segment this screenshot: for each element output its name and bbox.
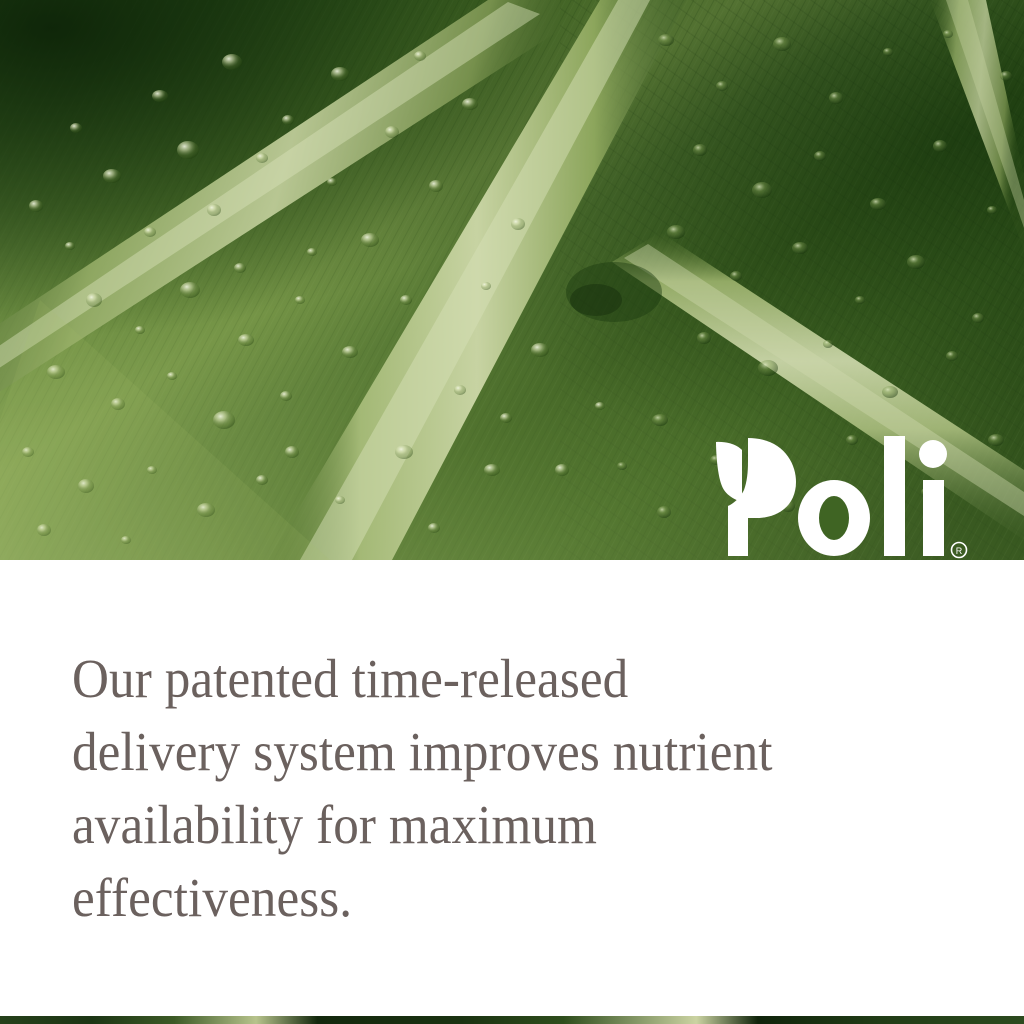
next-card-sliver: [0, 1016, 1024, 1024]
yoli-letter-l: [884, 436, 905, 556]
registered-trademark-icon: R: [952, 543, 967, 558]
next-card-leaf-edge: [0, 1016, 1024, 1024]
yoli-letter-i: [919, 440, 947, 556]
promotional-card: R Our patented time-released delivery sy…: [0, 0, 1024, 1024]
yoli-logo-mark: R: [712, 432, 972, 560]
svg-text:R: R: [956, 546, 963, 556]
yoli-logo: R: [712, 432, 972, 560]
hero-leaf-photo: R: [0, 0, 1024, 560]
text-panel: Our patented time-released delivery syst…: [0, 560, 1024, 1016]
headline-text: Our patented time-released delivery syst…: [72, 642, 807, 934]
yoli-letter-o: [798, 480, 870, 556]
yoli-y-sprout-icon: [716, 438, 796, 556]
